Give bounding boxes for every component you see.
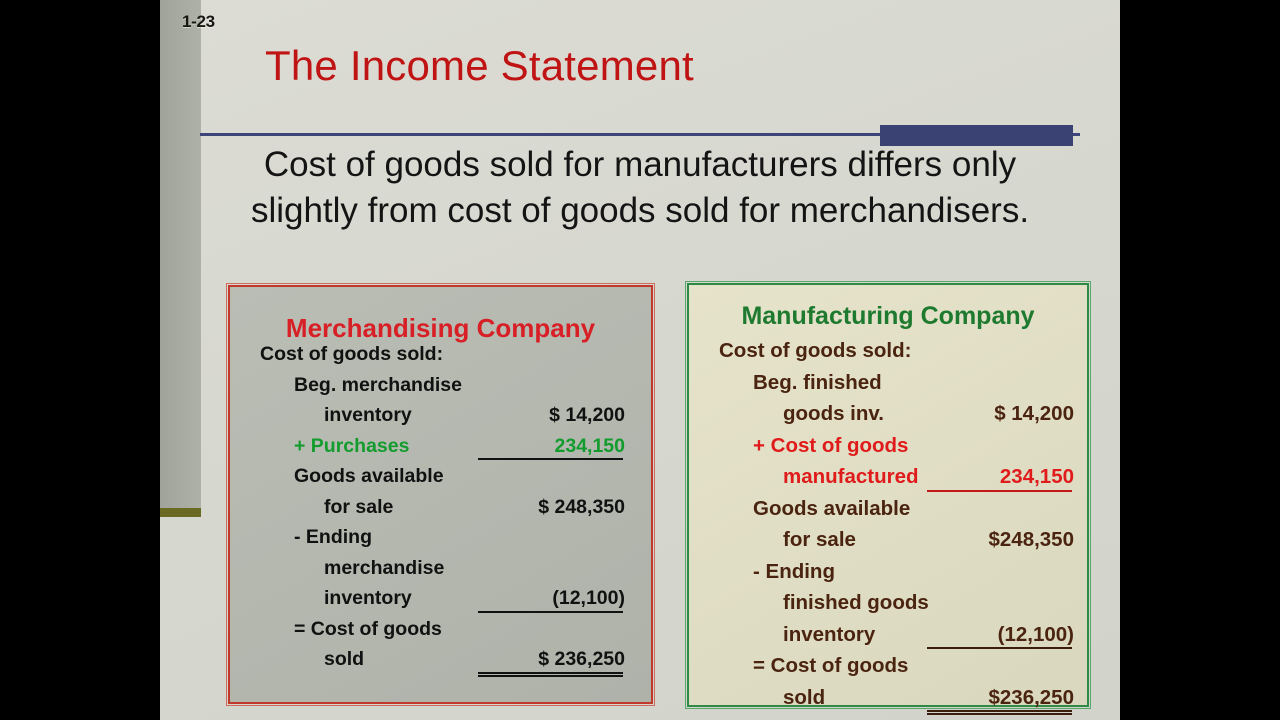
subtotal-rule xyxy=(927,490,1072,492)
statement-row-label: Beg. merchandise xyxy=(294,370,462,401)
statement-row-label: Goods available xyxy=(294,461,444,492)
statement-row: Beg. merchandise xyxy=(230,370,651,401)
statement-row-label: Beg. finished xyxy=(753,367,882,399)
total-double-rule xyxy=(478,672,623,677)
statement-row: for sale$ 248,350 xyxy=(230,492,651,523)
manufacturing-rows: Cost of goods sold:Beg. finishedgoods in… xyxy=(689,335,1087,713)
statement-row: + Purchases234,150 xyxy=(230,431,651,462)
screenshot-stage: 1-23 The Income Statement Cost of goods … xyxy=(0,0,1280,720)
statement-row-label: for sale xyxy=(783,524,856,556)
slide-left-band xyxy=(160,0,201,509)
statement-row: inventory$ 14,200 xyxy=(230,400,651,431)
statement-row-label: for sale xyxy=(324,492,393,523)
statement-row-label: Goods available xyxy=(753,493,910,525)
subtotal-rule xyxy=(478,611,623,613)
statement-row: goods inv.$ 14,200 xyxy=(689,398,1087,430)
statement-row: Goods available xyxy=(230,461,651,492)
statement-row-label: - Ending xyxy=(294,522,372,553)
statement-row-label: - Ending xyxy=(753,556,835,588)
statement-row-label: inventory xyxy=(324,400,412,431)
statement-row-label: inventory xyxy=(783,619,875,651)
statement-row-label: = Cost of goods xyxy=(753,650,908,682)
statement-row: merchandise xyxy=(230,553,651,584)
statement-row: - Ending xyxy=(230,522,651,553)
statement-row: = Cost of goods xyxy=(230,614,651,645)
statement-row-amount: (12,100) xyxy=(924,619,1074,651)
statement-row: Goods available xyxy=(689,493,1087,525)
slide-left-accent-bar xyxy=(160,508,201,517)
statement-row-amount: $248,350 xyxy=(924,524,1074,556)
statement-row-label: inventory xyxy=(324,583,412,614)
statement-row: + Cost of goods xyxy=(689,430,1087,462)
statement-row-label: + Purchases xyxy=(294,431,409,462)
statement-row: sold$ 236,250 xyxy=(230,644,651,675)
page-title: The Income Statement xyxy=(265,42,694,90)
statement-row-label: Cost of goods sold: xyxy=(260,339,443,370)
merchandising-company-panel: Merchandising Company Cost of goods sold… xyxy=(228,285,653,704)
manufacturing-panel-title: Manufacturing Company xyxy=(689,302,1087,331)
statement-row: finished goods xyxy=(689,587,1087,619)
statement-row: Cost of goods sold: xyxy=(689,335,1087,367)
statement-row: inventory(12,100) xyxy=(230,583,651,614)
slide-statement-text: Cost of goods sold for manufacturers dif… xyxy=(220,142,1060,234)
statement-row: Beg. finished xyxy=(689,367,1087,399)
total-double-rule xyxy=(927,710,1072,715)
statement-row-label: sold xyxy=(783,682,825,714)
statement-row-amount: 234,150 xyxy=(475,431,625,462)
statement-row-label: = Cost of goods xyxy=(294,614,442,645)
statement-row-label: manufactured xyxy=(783,461,919,493)
slide-number: 1-23 xyxy=(182,12,215,32)
statement-row: inventory(12,100) xyxy=(689,619,1087,651)
merchandising-rows: Cost of goods sold:Beg. merchandiseinven… xyxy=(230,339,651,675)
statement-row-label: sold xyxy=(324,644,364,675)
statement-row-amount: $ 236,250 xyxy=(475,644,625,675)
manufacturing-company-panel: Manufacturing Company Cost of goods sold… xyxy=(687,283,1089,707)
statement-row-label: Cost of goods sold: xyxy=(719,335,911,367)
statement-row: manufactured234,150 xyxy=(689,461,1087,493)
statement-row-amount: $236,250 xyxy=(924,682,1074,714)
statement-row: Cost of goods sold: xyxy=(230,339,651,370)
statement-row-amount: (12,100) xyxy=(475,583,625,614)
statement-row-label: + Cost of goods xyxy=(753,430,908,462)
statement-row: = Cost of goods xyxy=(689,650,1087,682)
subtotal-rule xyxy=(927,647,1072,649)
presentation-slide: 1-23 The Income Statement Cost of goods … xyxy=(160,0,1120,720)
statement-row-amount: $ 248,350 xyxy=(475,492,625,523)
statement-row: - Ending xyxy=(689,556,1087,588)
statement-row-amount: $ 14,200 xyxy=(924,398,1074,430)
statement-row: sold$236,250 xyxy=(689,682,1087,714)
subtotal-rule xyxy=(478,458,623,460)
statement-row-amount: $ 14,200 xyxy=(475,400,625,431)
statement-row-label: finished goods xyxy=(783,587,929,619)
statement-row-label: goods inv. xyxy=(783,398,884,430)
statement-row-label: merchandise xyxy=(324,553,444,584)
statement-row-amount: 234,150 xyxy=(924,461,1074,493)
statement-row: for sale$248,350 xyxy=(689,524,1087,556)
